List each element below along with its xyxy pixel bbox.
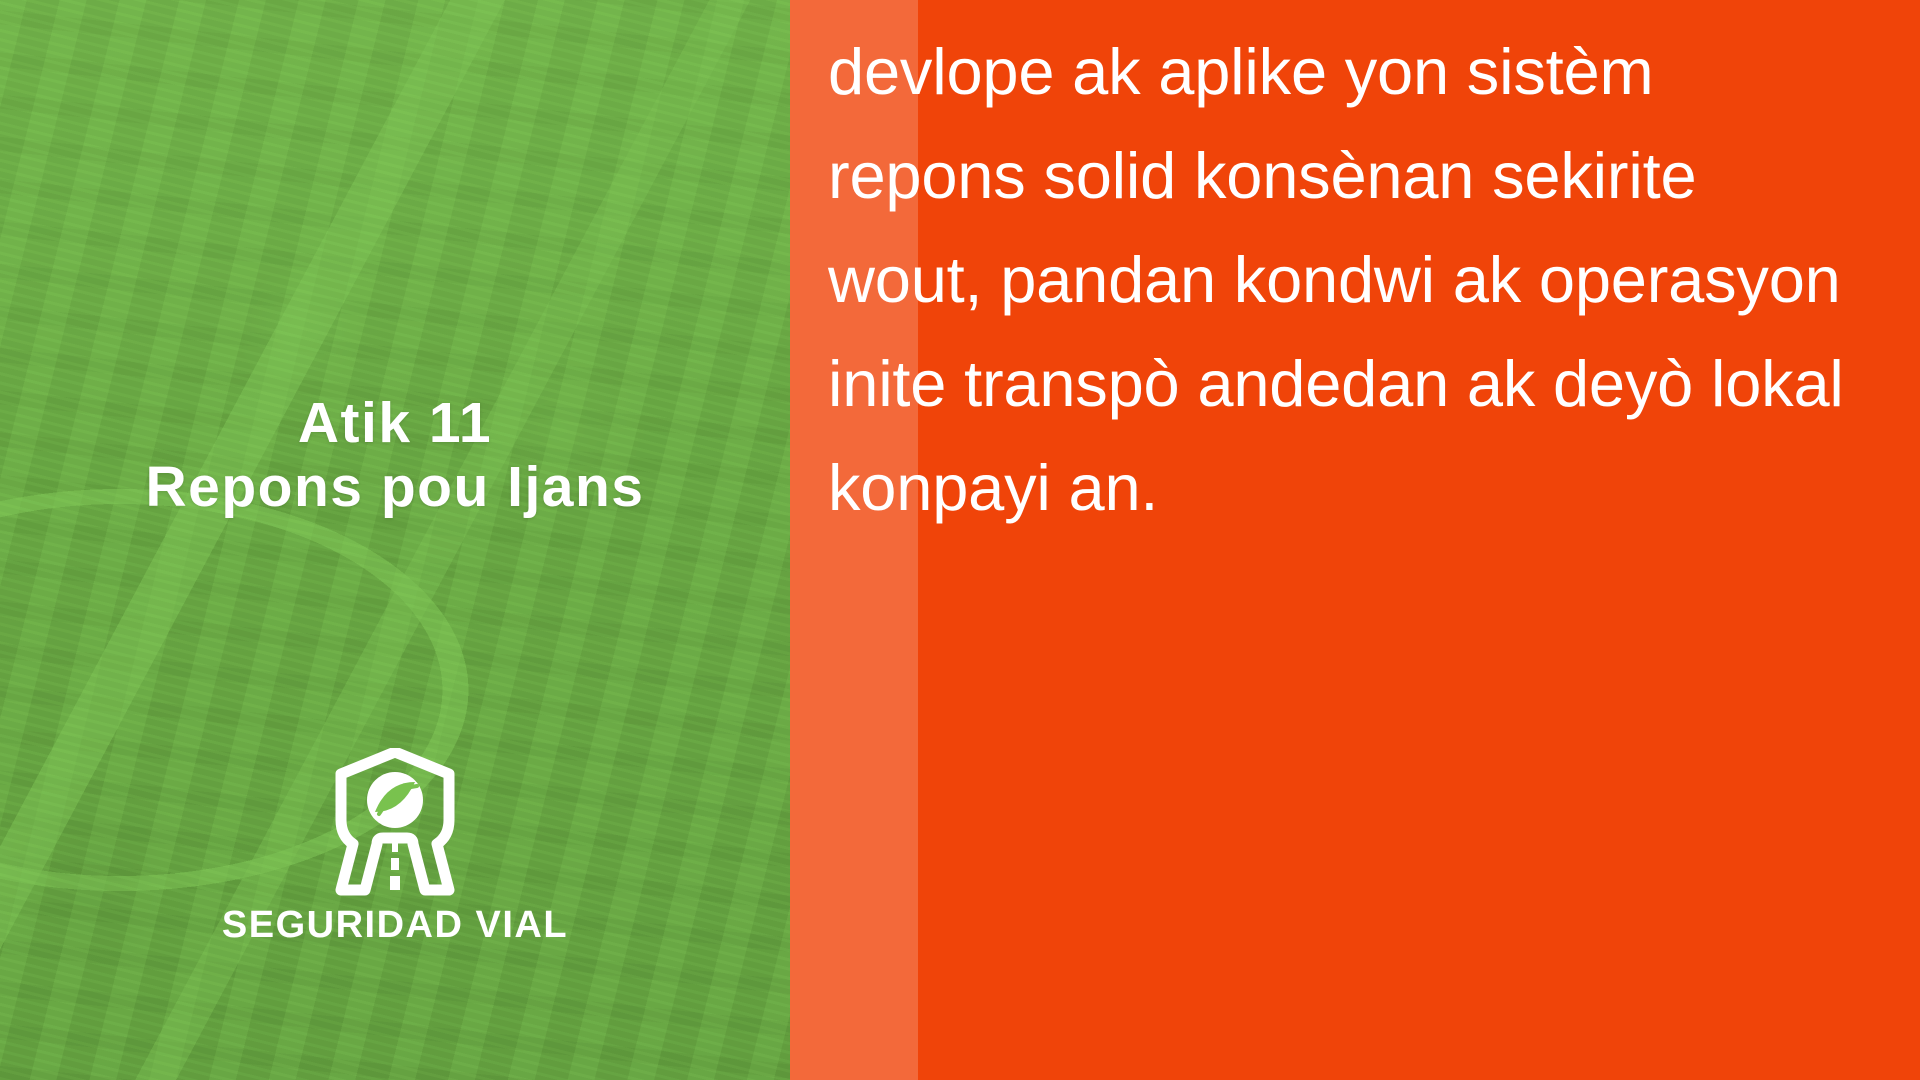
slide-root: Atik 11 Repons pou Ijans SEGURIDAD VIAL … — [0, 0, 1920, 1080]
body-copy-paragraph: devlope ak aplike yon sistèm repons soli… — [828, 20, 1848, 540]
road-shield-logo-icon — [329, 748, 461, 898]
slide-title-block: Atik 11 Repons pou Ijans — [0, 392, 790, 520]
body-copy: devlope ak aplike yon sistèm repons soli… — [828, 20, 1848, 540]
logo-wordmark: SEGURIDAD VIAL — [222, 904, 568, 947]
page-title: Atik 11 — [0, 392, 790, 455]
page-subtitle: Repons pou Ijans — [0, 455, 790, 521]
brand-logo: SEGURIDAD VIAL — [0, 748, 790, 947]
